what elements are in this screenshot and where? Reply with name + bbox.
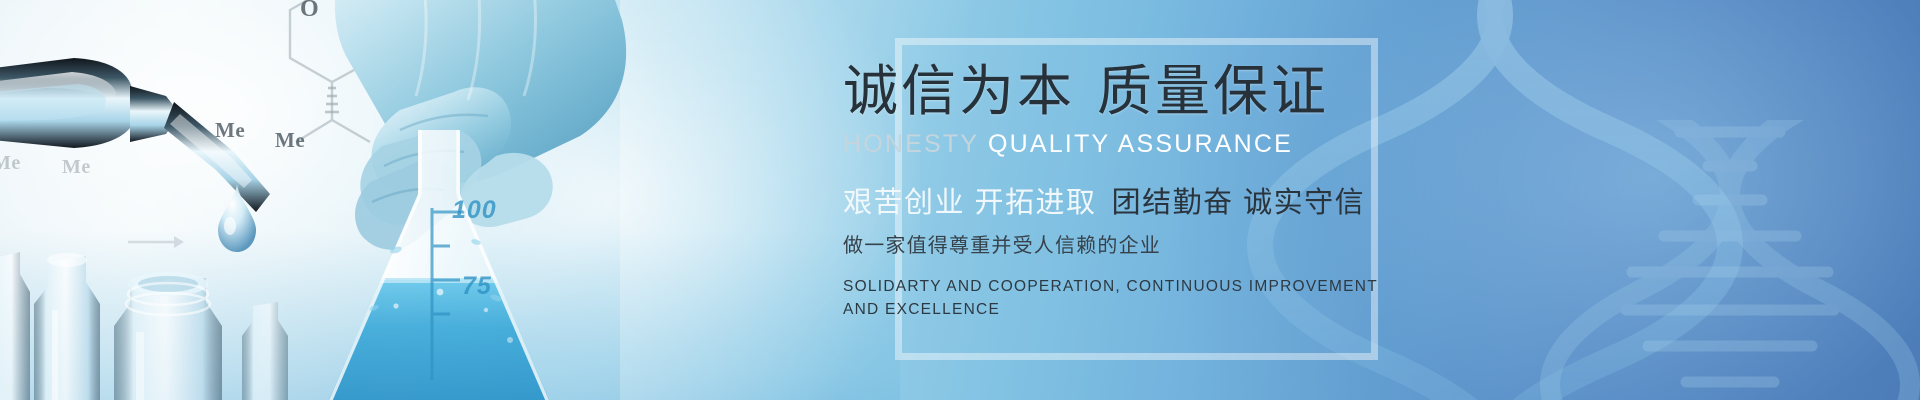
erlenmeyer-flask-icon	[300, 130, 720, 400]
motto-dark-part: 团结勤奋 诚实守信	[1112, 187, 1366, 219]
headline-part1: 诚信为本	[843, 60, 1075, 122]
footer-english: SOLIDARTY AND COOPERATION, CONTINUOUS IM…	[843, 276, 1463, 321]
footer-english-line1: SOLIDARTY AND COOPERATION, CONTINUOUS IM…	[843, 276, 1463, 298]
headline-part2: 质量保证	[1097, 60, 1329, 122]
motto-light-part: 艰苦创业 开拓进取	[843, 187, 1097, 219]
motto-line: 艰苦创业 开拓进取团结勤奋 诚实守信	[843, 179, 1583, 221]
tagline: 做一家值得尊重并受人信赖的企业	[843, 229, 1583, 258]
footer-english-line2: AND EXCELLENCE	[843, 299, 1463, 321]
headline: 诚信为本质量保证	[843, 62, 1583, 121]
subtitle-dim-word: HONESTY	[843, 130, 979, 158]
banner-copy-block: 诚信为本质量保证 HONESTY QUALITY ASSURANCE 艰苦创业 …	[843, 62, 1583, 321]
flask-graduation-100: 100	[452, 196, 497, 225]
subtitle-english: HONESTY QUALITY ASSURANCE	[843, 130, 1583, 159]
dna-helix-secondary-icon	[1530, 120, 1920, 400]
subtitle-bright-words: QUALITY ASSURANCE	[988, 130, 1293, 158]
promotional-banner: Me Me O OH Me Me	[0, 0, 1920, 400]
flask-graduation-75: 75	[462, 272, 492, 301]
